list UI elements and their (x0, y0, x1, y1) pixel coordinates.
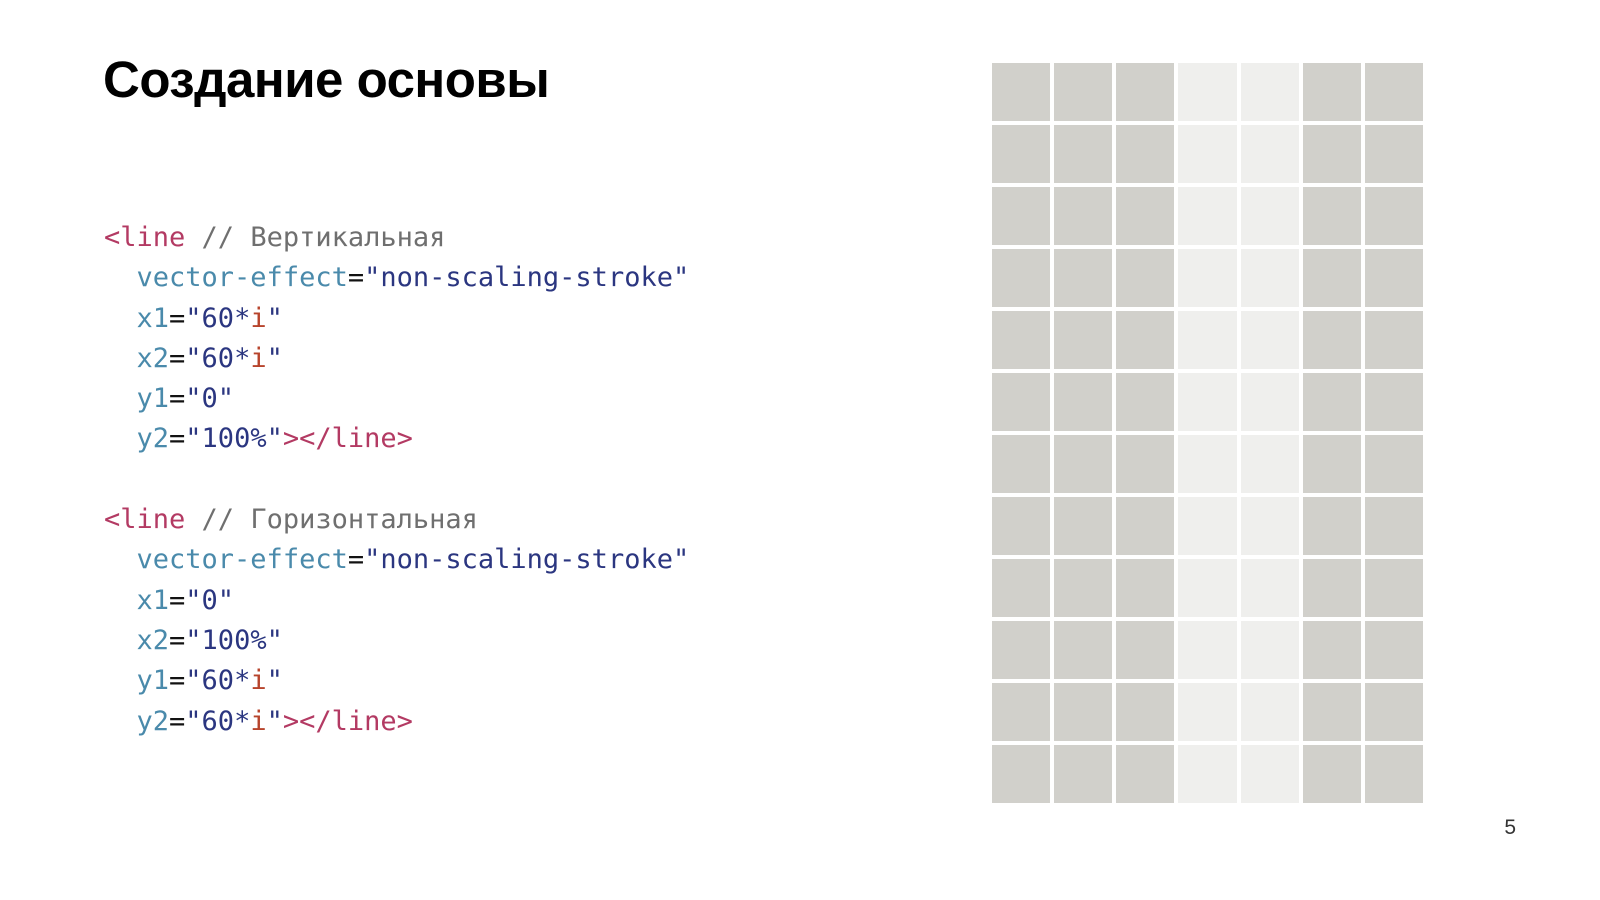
grid-cell (1365, 435, 1423, 493)
code-line: x1="60*i" (104, 299, 689, 339)
code-line: x2="100%" (104, 621, 689, 661)
code-token-eq: = (169, 665, 185, 696)
code-line: y1="0" (104, 379, 689, 419)
page-title: Создание основы (103, 52, 549, 108)
grid-cell (1178, 311, 1236, 369)
grid-cell (1365, 559, 1423, 617)
grid-cell (1365, 373, 1423, 431)
grid-cell (992, 745, 1050, 803)
grid-cell (1116, 683, 1174, 741)
grid-cell (1178, 125, 1236, 183)
code-token-eq: = (169, 303, 185, 334)
grid-cell (1054, 497, 1112, 555)
code-line: y1="60*i" (104, 661, 689, 701)
grid-cell (1241, 187, 1299, 245)
code-line: <line // Горизонтальная (104, 500, 689, 540)
grid-cell (992, 621, 1050, 679)
code-token-str: "100%" (185, 423, 283, 454)
grid-cell (1054, 63, 1112, 121)
grid-cell (1241, 311, 1299, 369)
code-token-str: " (267, 706, 283, 737)
grid-cell (1116, 559, 1174, 617)
grid-cell (1303, 373, 1361, 431)
grid-cell (1241, 559, 1299, 617)
grid-cell (1303, 63, 1361, 121)
page-number: 5 (1504, 816, 1516, 840)
grid-cell (992, 559, 1050, 617)
grid-cell (1054, 683, 1112, 741)
code-token-str: "60* (185, 303, 250, 334)
grid-cell (992, 125, 1050, 183)
grid-cell (1241, 745, 1299, 803)
grid-cell (992, 249, 1050, 307)
grid-cell (1178, 249, 1236, 307)
grid-cell (1303, 311, 1361, 369)
grid-cell (1116, 435, 1174, 493)
grid-cell (992, 435, 1050, 493)
grid-cell (1178, 683, 1236, 741)
grid-cell (1116, 125, 1174, 183)
grid-cell (1054, 435, 1112, 493)
grid-cell (992, 187, 1050, 245)
code-line: <line // Вертикальная (104, 218, 689, 258)
code-token-attr: x1 (137, 585, 170, 616)
grid-cell (1178, 187, 1236, 245)
code-blank-line (104, 460, 689, 500)
code-line: vector-effect="non-scaling-stroke" (104, 540, 689, 580)
code-token-eq: = (169, 343, 185, 374)
code-token-str: " (267, 343, 283, 374)
code-line: y2="100%"></line> (104, 419, 689, 459)
grid-cell (1241, 125, 1299, 183)
grid-cell (1241, 435, 1299, 493)
code-token-eq: = (169, 585, 185, 616)
grid-cell (1054, 249, 1112, 307)
grid-cell (1365, 125, 1423, 183)
code-token-str: "60* (185, 706, 250, 737)
code-line: vector-effect="non-scaling-stroke" (104, 258, 689, 298)
code-token-str: "60* (185, 343, 250, 374)
code-token-attr: y2 (137, 706, 170, 737)
code-token-plain (185, 504, 201, 535)
grid-cell (1365, 311, 1423, 369)
grid-cell (1178, 745, 1236, 803)
grid-cell (1241, 683, 1299, 741)
grid-cell (992, 373, 1050, 431)
grid-cell (1303, 559, 1361, 617)
code-token-attr: x2 (137, 625, 170, 656)
grid-cell (992, 683, 1050, 741)
code-token-str: "0" (185, 585, 234, 616)
code-token-tag: <line (104, 222, 185, 253)
grid-cell (1054, 559, 1112, 617)
grid-cell (1303, 621, 1361, 679)
grid-cell (1241, 373, 1299, 431)
grid-cell (1116, 497, 1174, 555)
code-token-eq: = (169, 423, 185, 454)
code-token-eq: = (169, 383, 185, 414)
svg-grid-preview (992, 63, 1423, 803)
grid-cell (992, 63, 1050, 121)
code-token-attr: vector-effect (137, 262, 348, 293)
grid-cell (1178, 621, 1236, 679)
grid-cell (1303, 497, 1361, 555)
code-token-eq: = (348, 262, 364, 293)
code-token-plain (104, 303, 137, 334)
code-token-attr: y1 (137, 383, 170, 414)
grid-cell (1178, 497, 1236, 555)
grid-cell (1116, 373, 1174, 431)
code-token-eq: = (169, 625, 185, 656)
code-token-plain (185, 222, 201, 253)
grid-cell (1365, 745, 1423, 803)
code-token-attr: y1 (137, 665, 170, 696)
grid-cell (1116, 249, 1174, 307)
code-line: y2="60*i"></line> (104, 702, 689, 742)
code-token-eq: = (348, 544, 364, 575)
grid-cell (1241, 497, 1299, 555)
grid-cell (1054, 621, 1112, 679)
grid-cell (1365, 621, 1423, 679)
code-token-str: "non-scaling-stroke" (364, 262, 689, 293)
grid-cell (1054, 311, 1112, 369)
code-token-plain (104, 585, 137, 616)
grid-cell (1303, 435, 1361, 493)
grid-cell (1365, 187, 1423, 245)
code-token-str: " (267, 665, 283, 696)
code-token-comment: // Вертикальная (202, 222, 446, 253)
grid-cell (1178, 559, 1236, 617)
grid-cell (1303, 187, 1361, 245)
grid-cell (1365, 63, 1423, 121)
code-token-attr: x2 (137, 343, 170, 374)
code-token-tag: ></line> (283, 706, 413, 737)
grid-cell (1241, 621, 1299, 679)
code-token-comment: // Горизонтальная (202, 504, 478, 535)
grid-cell (1054, 187, 1112, 245)
grid-cell (1116, 311, 1174, 369)
grid-cell (1116, 63, 1174, 121)
grid-cell (1054, 373, 1112, 431)
code-token-plain (104, 706, 137, 737)
grid-cell (1116, 621, 1174, 679)
grid-cell (1178, 435, 1236, 493)
code-token-str: "100%" (185, 625, 283, 656)
code-token-var: i (250, 343, 266, 374)
grid-cell (1303, 125, 1361, 183)
grid-cell (1116, 745, 1174, 803)
grid-cell (1303, 683, 1361, 741)
code-token-plain (104, 544, 137, 575)
grid-cell (992, 497, 1050, 555)
grid-cell (1178, 373, 1236, 431)
code-token-plain (104, 665, 137, 696)
code-token-plain (104, 343, 137, 374)
code-token-tag: <line (104, 504, 185, 535)
grid-cell (992, 311, 1050, 369)
code-token-str: " (267, 303, 283, 334)
code-token-plain (104, 383, 137, 414)
grid-cell (1303, 249, 1361, 307)
code-line: x2="60*i" (104, 339, 689, 379)
code-token-eq: = (169, 706, 185, 737)
code-block: <line // Вертикальная vector-effect="non… (104, 218, 689, 742)
grid-cell (1116, 187, 1174, 245)
grid-cell (1365, 497, 1423, 555)
grid-cell (1303, 745, 1361, 803)
code-token-var: i (250, 706, 266, 737)
code-token-attr: vector-effect (137, 544, 348, 575)
grid-cell (1365, 249, 1423, 307)
code-token-str: "60* (185, 665, 250, 696)
grid-cell (1054, 745, 1112, 803)
code-token-plain (104, 625, 137, 656)
code-token-str: "non-scaling-stroke" (364, 544, 689, 575)
code-line: x1="0" (104, 581, 689, 621)
code-token-var: i (250, 665, 266, 696)
code-token-plain (104, 262, 137, 293)
code-token-var: i (250, 303, 266, 334)
code-token-attr: x1 (137, 303, 170, 334)
code-token-tag: ></line> (283, 423, 413, 454)
grid-cell (1178, 63, 1236, 121)
grid-cell (1241, 249, 1299, 307)
code-token-str: "0" (185, 383, 234, 414)
code-token-plain (104, 423, 137, 454)
grid-cell (1365, 683, 1423, 741)
code-token-attr: y2 (137, 423, 170, 454)
grid-cell (1054, 125, 1112, 183)
grid-cell (1241, 63, 1299, 121)
